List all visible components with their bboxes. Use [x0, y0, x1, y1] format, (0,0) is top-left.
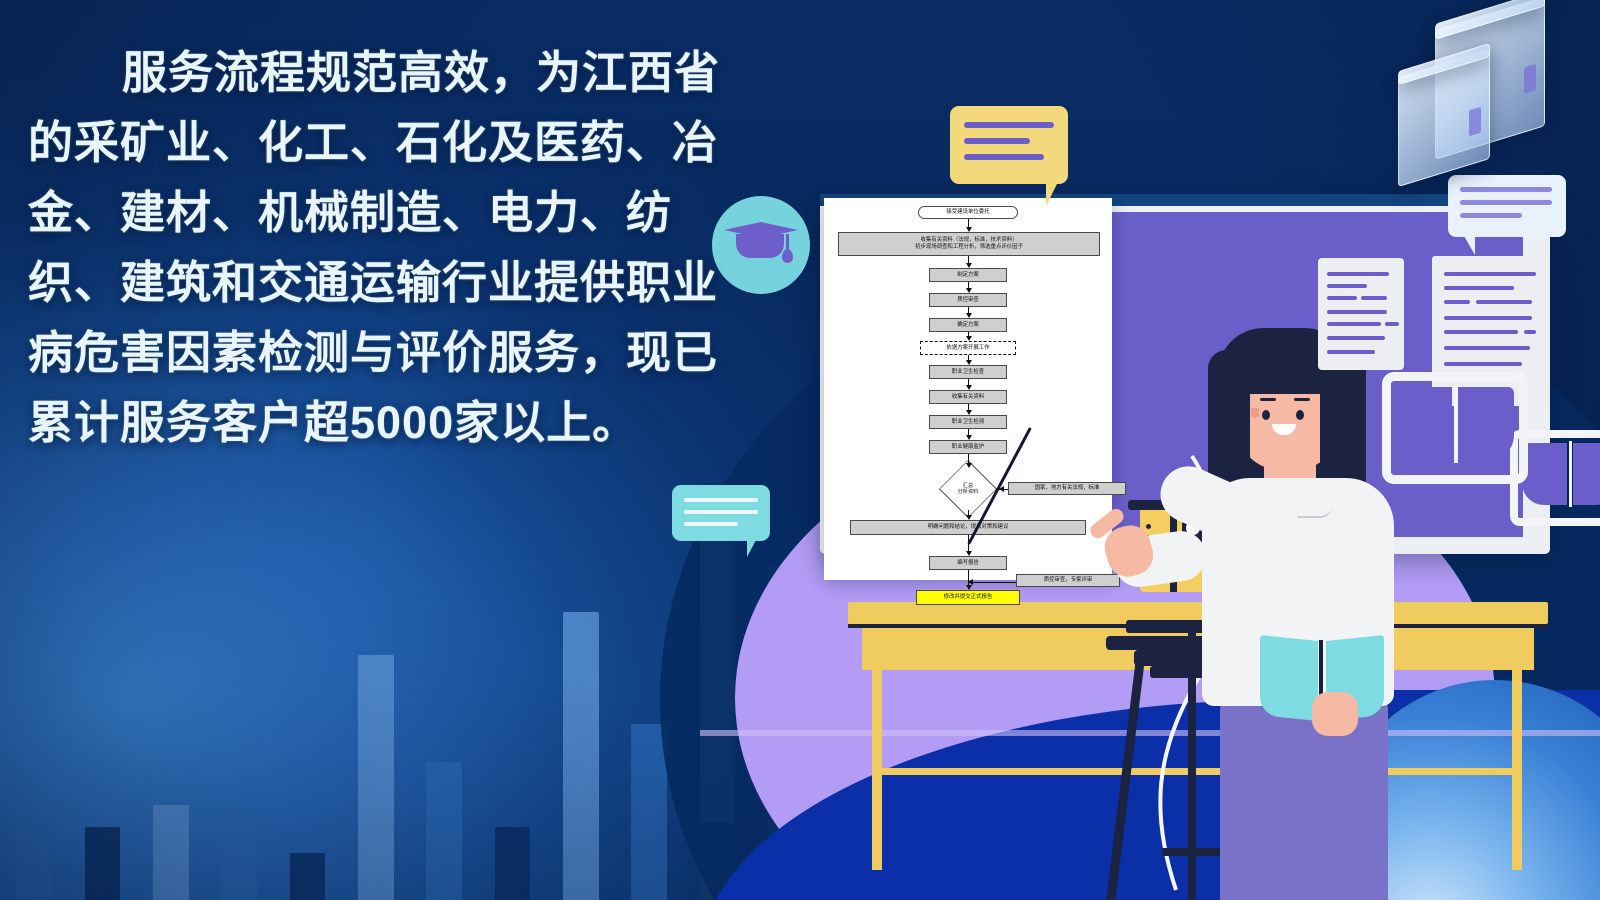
flowchart-arrowhead: [966, 551, 972, 556]
headline-line-5: 病危害因素检测与评价服务，现已: [28, 318, 776, 388]
headline-line-3: 金、建材、机械制造、电力、纺: [28, 178, 776, 248]
flowchart-arrowhead: [966, 435, 972, 440]
flowchart-node: 质控审查: [929, 293, 1007, 307]
document-text-line: [1327, 284, 1367, 288]
flowchart-node: 职业卫生检查: [929, 365, 1007, 379]
document-text-line: [1327, 296, 1357, 300]
flowchart-arrowhead: [966, 313, 972, 318]
speech-bubble-icon-teal: [672, 485, 770, 541]
document-text-line: [1327, 272, 1389, 276]
document-text-line: [1385, 322, 1399, 326]
document-text-line: [1524, 330, 1536, 334]
speech-bubble-icon-light: [1448, 175, 1566, 237]
headline-line-1: 服务流程规范高效，为江西省: [28, 38, 776, 108]
flowchart-node: 收集有关资料（法规，标准，技术资料） 初步现场调查和工程分析，筛选重点评价因子: [838, 232, 1100, 256]
document-text-line: [1327, 310, 1387, 314]
document-text-line: [1444, 300, 1470, 304]
headline-line-4: 织、建筑和交通运输行业提供职业: [28, 248, 776, 318]
speech-bubble-icon-yellow: [950, 106, 1068, 184]
flowchart-arrowhead: [966, 410, 972, 415]
document-text-line: [1327, 336, 1385, 340]
flowchart-arrowhead: [966, 288, 972, 293]
flowchart-arrowhead: [966, 385, 972, 390]
flowchart-node: 依据方案开展工作: [920, 341, 1016, 355]
flowchart-node: 制定方案: [929, 268, 1007, 282]
document-icon: [1318, 258, 1404, 370]
document-text-line: [1327, 322, 1381, 326]
document-text-line: [1444, 286, 1514, 290]
flowchart-arrowhead: [966, 463, 972, 468]
flowchart-arrowhead: [966, 515, 972, 520]
headline-line-2: 的采矿业、化工、石化及医药、冶: [28, 108, 776, 178]
document-text-line: [1361, 296, 1387, 300]
flowchart-node: 收集有关资料: [929, 390, 1007, 404]
flowchart-node: 编写报告: [929, 556, 1007, 570]
poster-stage: 服务流程规范高效，为江西省 的采矿业、化工、石化及医药、冶 金、建材、机械制造、…: [0, 0, 1600, 900]
flowchart-node: 职业健康监护: [929, 440, 1007, 454]
books-icon: [1395, 5, 1585, 180]
trousers: [1220, 692, 1388, 900]
document-text-line: [1476, 300, 1532, 304]
flowchart-node: 接受建设单位委托: [918, 206, 1018, 219]
flowchart-arrowhead: [966, 360, 972, 365]
flowchart-arrowhead: [966, 263, 972, 268]
flowchart-arrowhead: [968, 579, 973, 585]
document-text-line: [1444, 272, 1536, 276]
open-book-icon: [1382, 372, 1528, 484]
flowchart-arrowhead: [966, 227, 972, 232]
flowchart-node: 职业卫生检测: [929, 415, 1007, 429]
headline-text: 服务流程规范高效，为江西省 的采矿业、化工、石化及医药、冶 金、建材、机械制造、…: [28, 38, 776, 458]
flowchart-node: 确定方案: [929, 318, 1007, 332]
document-text-line: [1327, 350, 1375, 354]
headline-line-6: 累计服务客户超5000家以上。: [28, 388, 776, 458]
flowchart-arrowhead: [966, 585, 972, 590]
illustration-scene: 接受建设单位委托收集有关资料（法规，标准，技术资料） 初步现场调查和工程分析，筛…: [700, 170, 1600, 900]
flowchart-arrowhead: [966, 336, 972, 341]
